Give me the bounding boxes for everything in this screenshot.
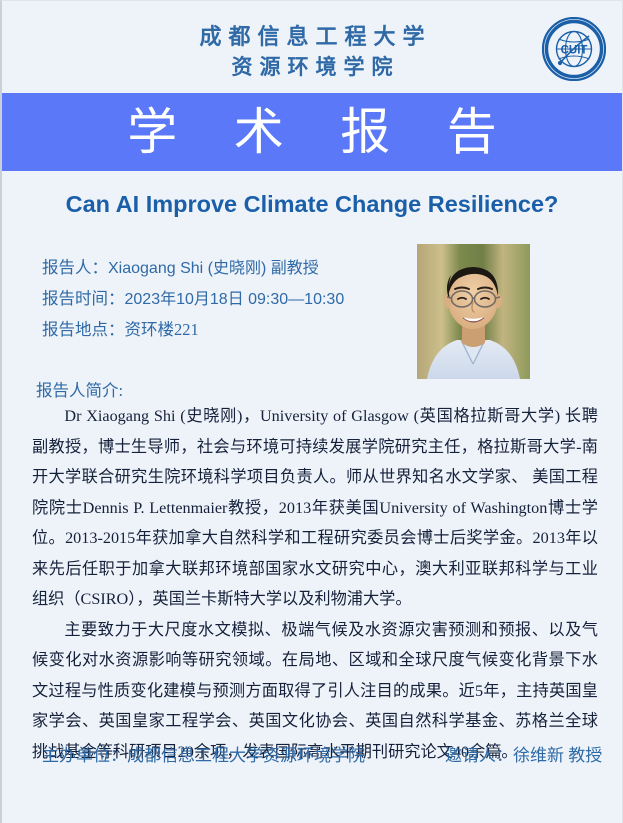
place-label: 报告地点： <box>42 320 125 339</box>
banner-title: 学 术 报 告 <box>105 107 519 157</box>
inviter-value: 徐维新 教授 <box>513 746 602 765</box>
cuit-logo-icon: CUIT <box>542 17 606 81</box>
inviter-label: 邀请人： <box>445 746 513 765</box>
footer-inviter: 邀请人：徐维新 教授 <box>445 741 602 766</box>
time-label: 报告时间： <box>42 289 125 308</box>
poster-header: 成都信息工程大学 资源环境学院 CUIT <box>2 1 622 93</box>
host-label: 主办单位： <box>42 746 127 765</box>
speaker-label: 报告人： <box>42 258 108 277</box>
meta-row-place: 报告地点：资环楼221 <box>42 315 412 345</box>
speaker-value: Xiaogang Shi (史晓刚) 副教授 <box>108 260 319 277</box>
logo-acronym: CUIT <box>561 45 588 57</box>
bio-label: 报告人简介: <box>36 377 123 401</box>
place-value: 资环楼221 <box>125 320 199 339</box>
bio-paragraph-1: Dr Xiaogang Shi (史晓刚)，University of Glas… <box>32 401 598 615</box>
meta-row-speaker: 报告人：Xiaogang Shi (史晓刚) 副教授 <box>42 253 412 284</box>
footer-host: 主办单位：成都信息工程大学资源环境学院 <box>42 741 365 766</box>
university-name: 成都信息工程大学 资源环境学院 <box>2 21 622 83</box>
banner: 学 术 报 告 <box>2 93 622 171</box>
talk-title: Can AI Improve Climate Change Resilience… <box>2 191 622 218</box>
bio-body: Dr Xiaogang Shi (史晓刚)，University of Glas… <box>32 401 598 767</box>
host-value: 成都信息工程大学资源环境学院 <box>127 746 365 765</box>
university-name-line2: 资源环境学院 <box>2 52 622 83</box>
poster-footer: 主办单位：成都信息工程大学资源环境学院 邀请人：徐维新 教授 <box>42 741 592 766</box>
talk-meta: 报告人：Xiaogang Shi (史晓刚) 副教授 报告时间：2023年10月… <box>42 253 412 345</box>
meta-row-time: 报告时间：2023年10月18日 09:30—10:30 <box>42 284 412 315</box>
speaker-portrait <box>417 244 530 379</box>
university-name-line1: 成都信息工程大学 <box>2 21 622 52</box>
poster-page: 成都信息工程大学 资源环境学院 CUIT 学 术 报 告 Can AI Impr… <box>0 0 623 823</box>
time-value: 2023年10月18日 09:30—10:30 <box>125 291 345 308</box>
